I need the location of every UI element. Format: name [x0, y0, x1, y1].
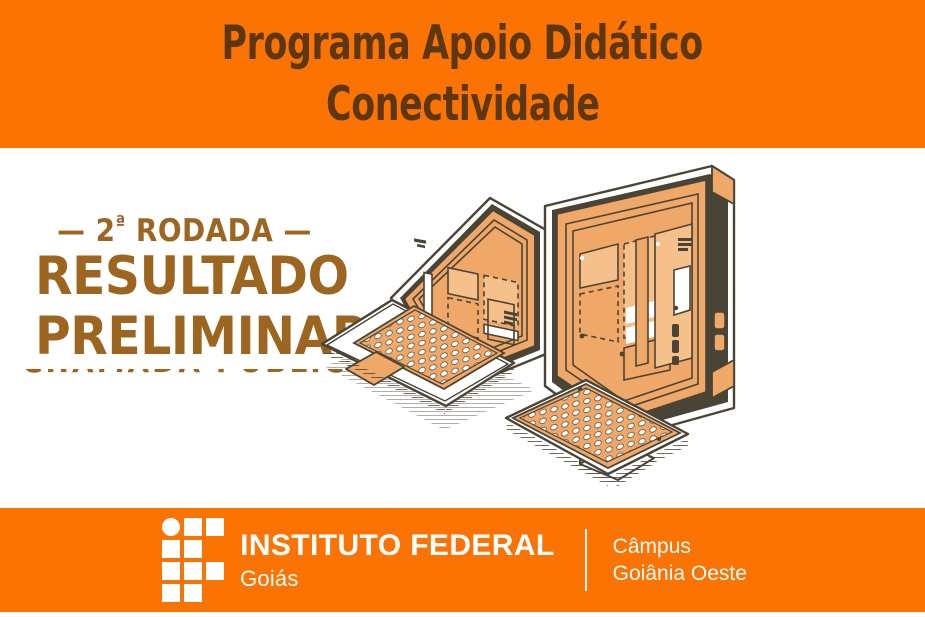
campus-line-2: Goiânia Oeste [613, 560, 747, 587]
campus-line-1: Câmpus [613, 533, 747, 560]
logo-cell-r2c1 [162, 540, 180, 558]
instituto-federal-logo-icon [162, 518, 224, 602]
logo-cell-r1c1 [162, 518, 180, 536]
logo-cell-r1c3 [206, 518, 224, 536]
institute-wordmark: INSTITUTO FEDERAL Goiás [240, 531, 555, 590]
headline-line-2: PRELIMINAR [35, 310, 334, 363]
logo-cell-r2c3 [206, 540, 224, 558]
headline-line-1: RESULTADO [35, 250, 334, 303]
headline-block: — 2ª RODADA — RESULTADO PRELIMINAR CHAMA… [22, 212, 347, 385]
headline-clipped-line: CHAMADA PÚBLICA [22, 369, 347, 385]
institute-name: INSTITUTO FEDERAL [240, 531, 555, 561]
campus-block: Câmpus Goiânia Oeste [613, 533, 747, 587]
headline-clipped-text: CHAMADA PÚBLICA [22, 369, 347, 373]
logo-cell-r1c2 [184, 518, 202, 536]
round-label-ordinal: ª [116, 212, 126, 235]
logo-cell-r3c3 [206, 562, 224, 580]
logo-cell-r4c2 [184, 584, 202, 602]
logo-cell-r3c1 [162, 562, 180, 580]
footer-bottom-edge [0, 612, 925, 617]
logo-cell-r3c2 [184, 562, 202, 580]
round-label-prefix: — 2 [57, 213, 115, 249]
institute-state: Goiás [240, 568, 555, 590]
logo-cell-r2c2 [184, 540, 202, 558]
poster-title: Programa Apoio Didático Conectividade [0, 0, 925, 148]
title-line-2: Conectividade [326, 74, 600, 135]
logo-cell-r4c3 [206, 584, 224, 602]
round-label-suffix: RODADA — [126, 213, 312, 249]
round-label: — 2ª RODADA — [38, 212, 331, 250]
laptop-graphic [322, 198, 546, 430]
title-line-1: Programa Apoio Didático [222, 13, 703, 74]
poster-canvas: Programa Apoio Didático Conectividade — … [0, 0, 925, 617]
footer-divider [585, 529, 587, 591]
logo-cell-r4c1 [162, 584, 180, 602]
isometric-computers-illustration [318, 158, 748, 498]
footer-content: INSTITUTO FEDERAL Goiás Câmpus Goiânia O… [0, 508, 925, 612]
